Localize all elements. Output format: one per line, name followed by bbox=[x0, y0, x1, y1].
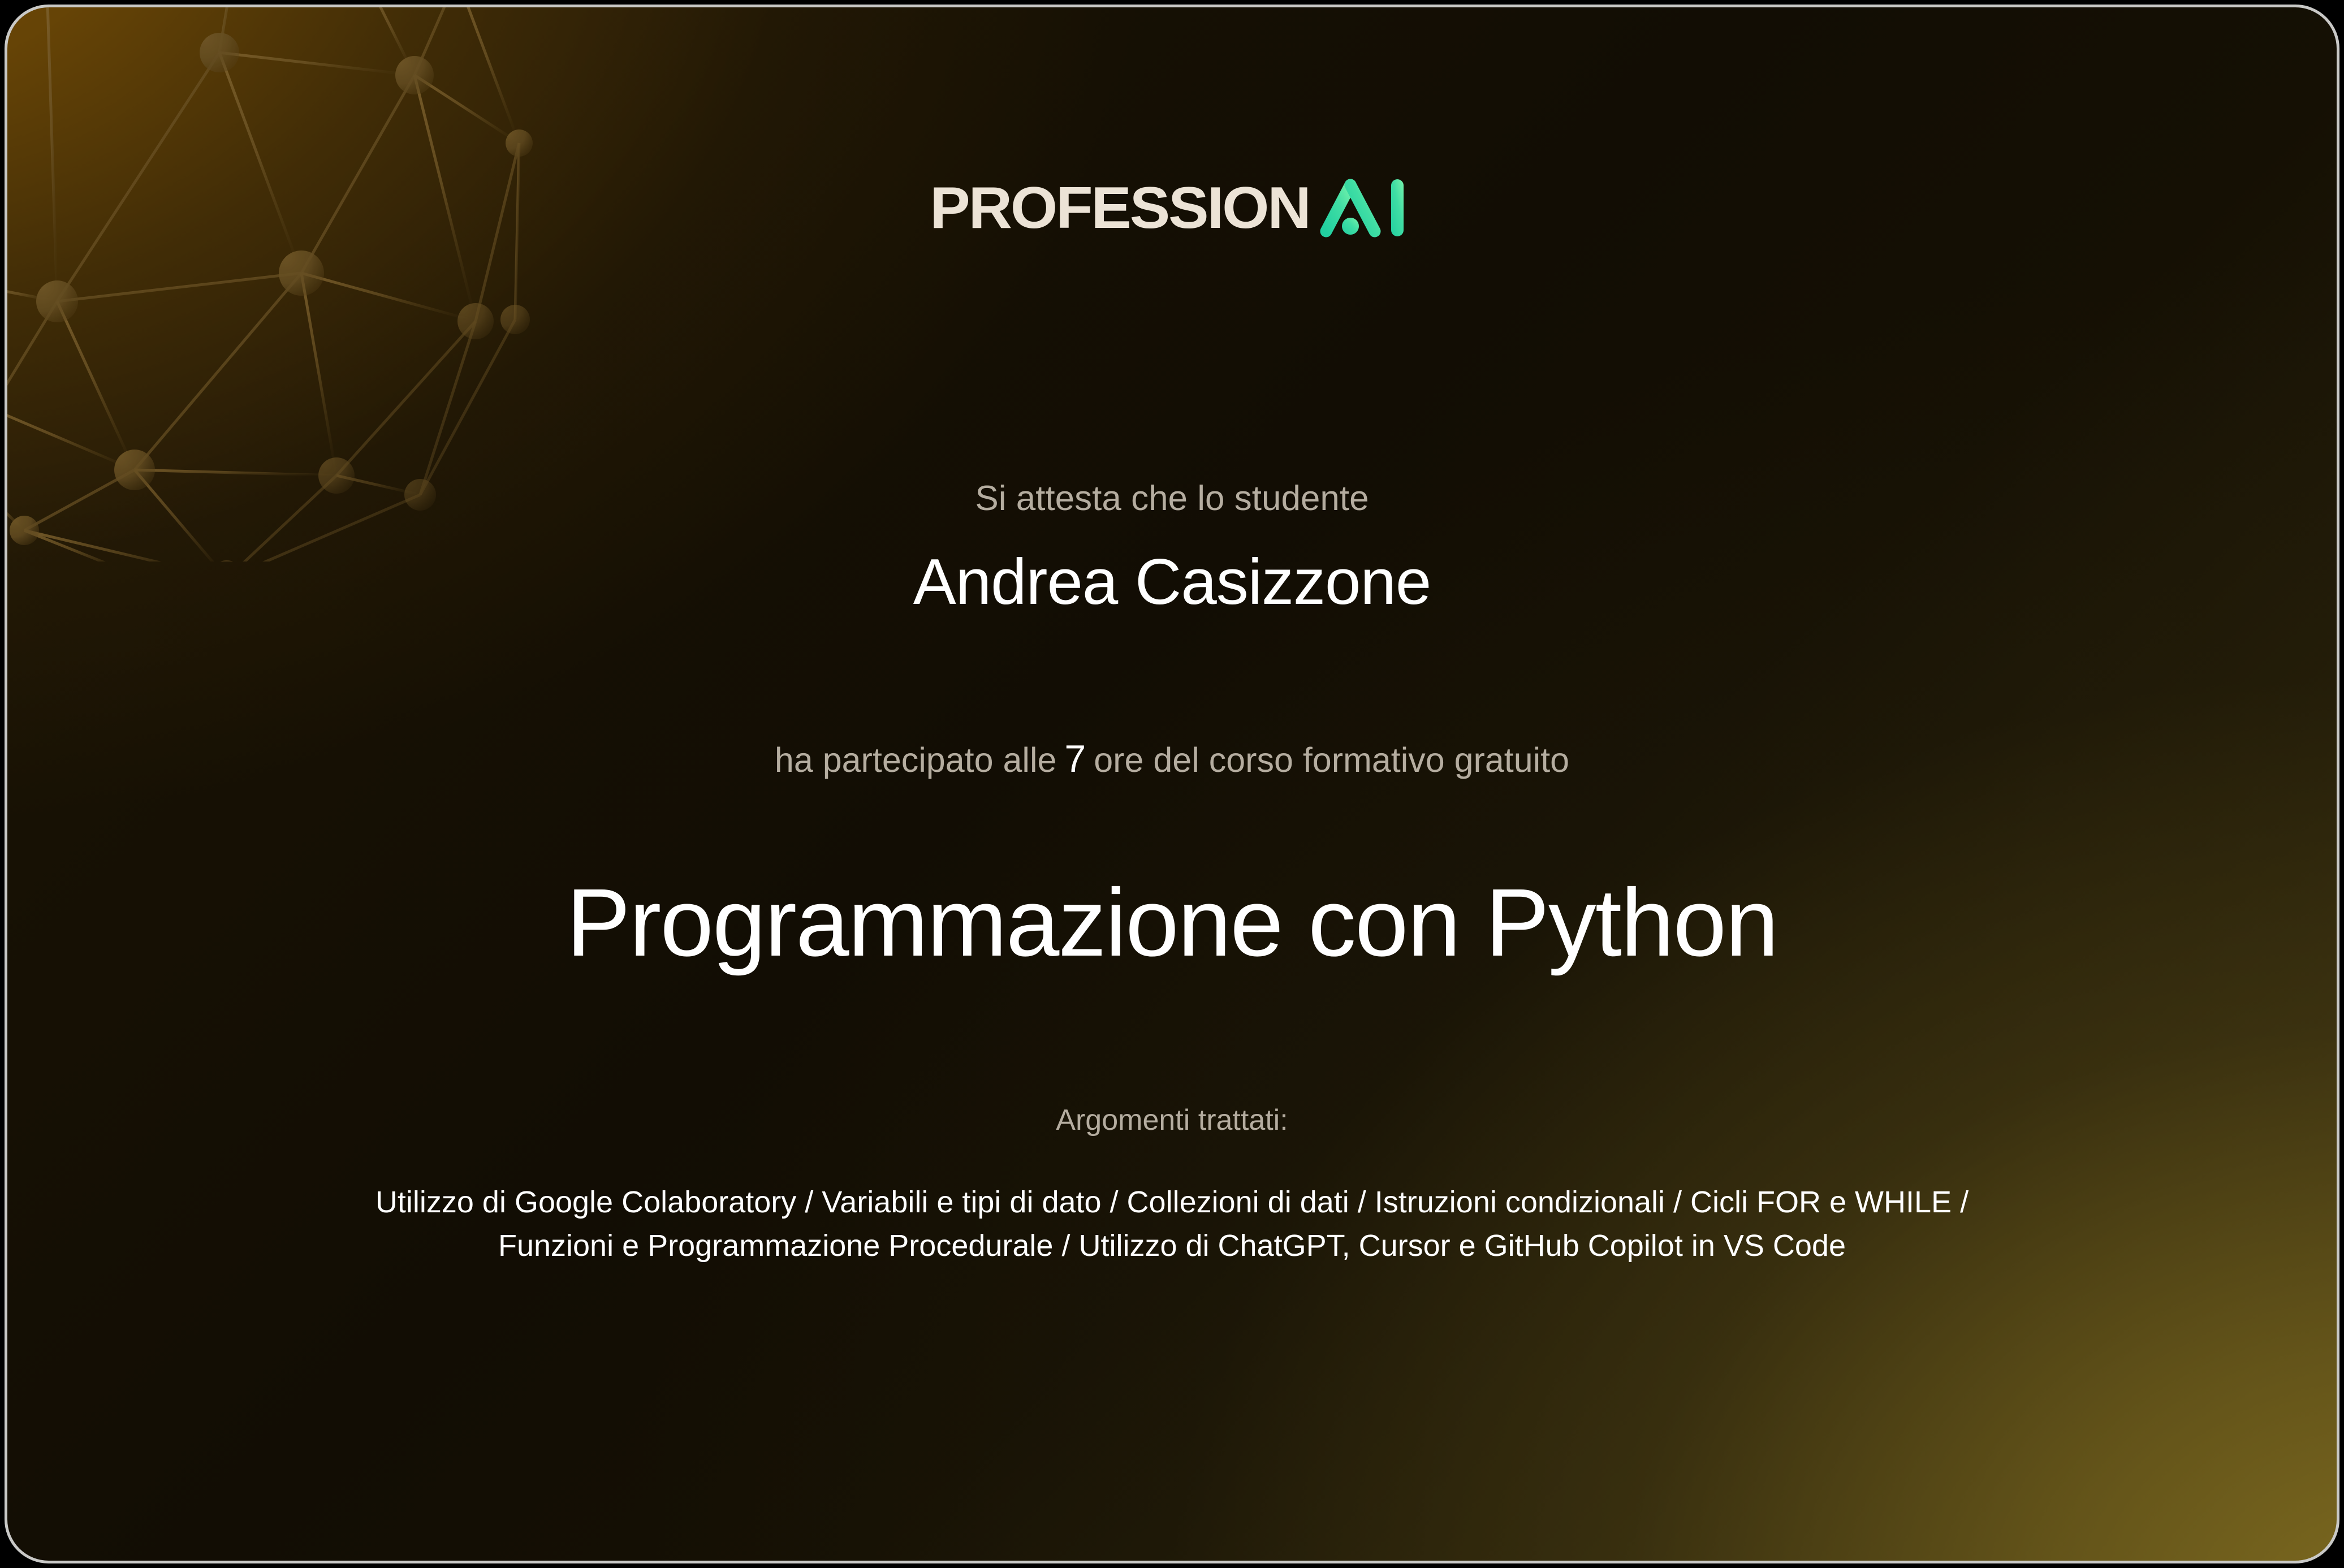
ai-mark-icon bbox=[1319, 175, 1409, 241]
course-title: Programmazione con Python bbox=[7, 871, 2337, 975]
hours-value: 7 bbox=[1056, 737, 1094, 780]
hours-suffix: ore del corso formativo gratuito bbox=[1094, 741, 1569, 779]
certificate-card: PROFESSION bbox=[5, 5, 2339, 1563]
intro-line: Si attesta che lo studente bbox=[7, 481, 2337, 516]
certificate-page: PROFESSION bbox=[0, 0, 2344, 1568]
network-constellation-decoration bbox=[7, 7, 607, 561]
hours-line: ha partecipato alle7ore del corso format… bbox=[7, 740, 2337, 778]
hours-prefix: ha partecipato alle bbox=[775, 741, 1057, 779]
topics-label: Argomenti trattati: bbox=[7, 1105, 2337, 1135]
topics-line: Funzioni e Programmazione Procedurale / … bbox=[166, 1224, 2179, 1268]
brand-wordmark: PROFESSION bbox=[930, 179, 1309, 237]
student-name: Andrea Casizzone bbox=[7, 550, 2337, 615]
brand-logo: PROFESSION bbox=[7, 175, 2337, 241]
topics-list: Utilizzo di Google Colaboratory / Variab… bbox=[166, 1181, 2179, 1267]
topics-line: Utilizzo di Google Colaboratory / Variab… bbox=[166, 1181, 2179, 1224]
